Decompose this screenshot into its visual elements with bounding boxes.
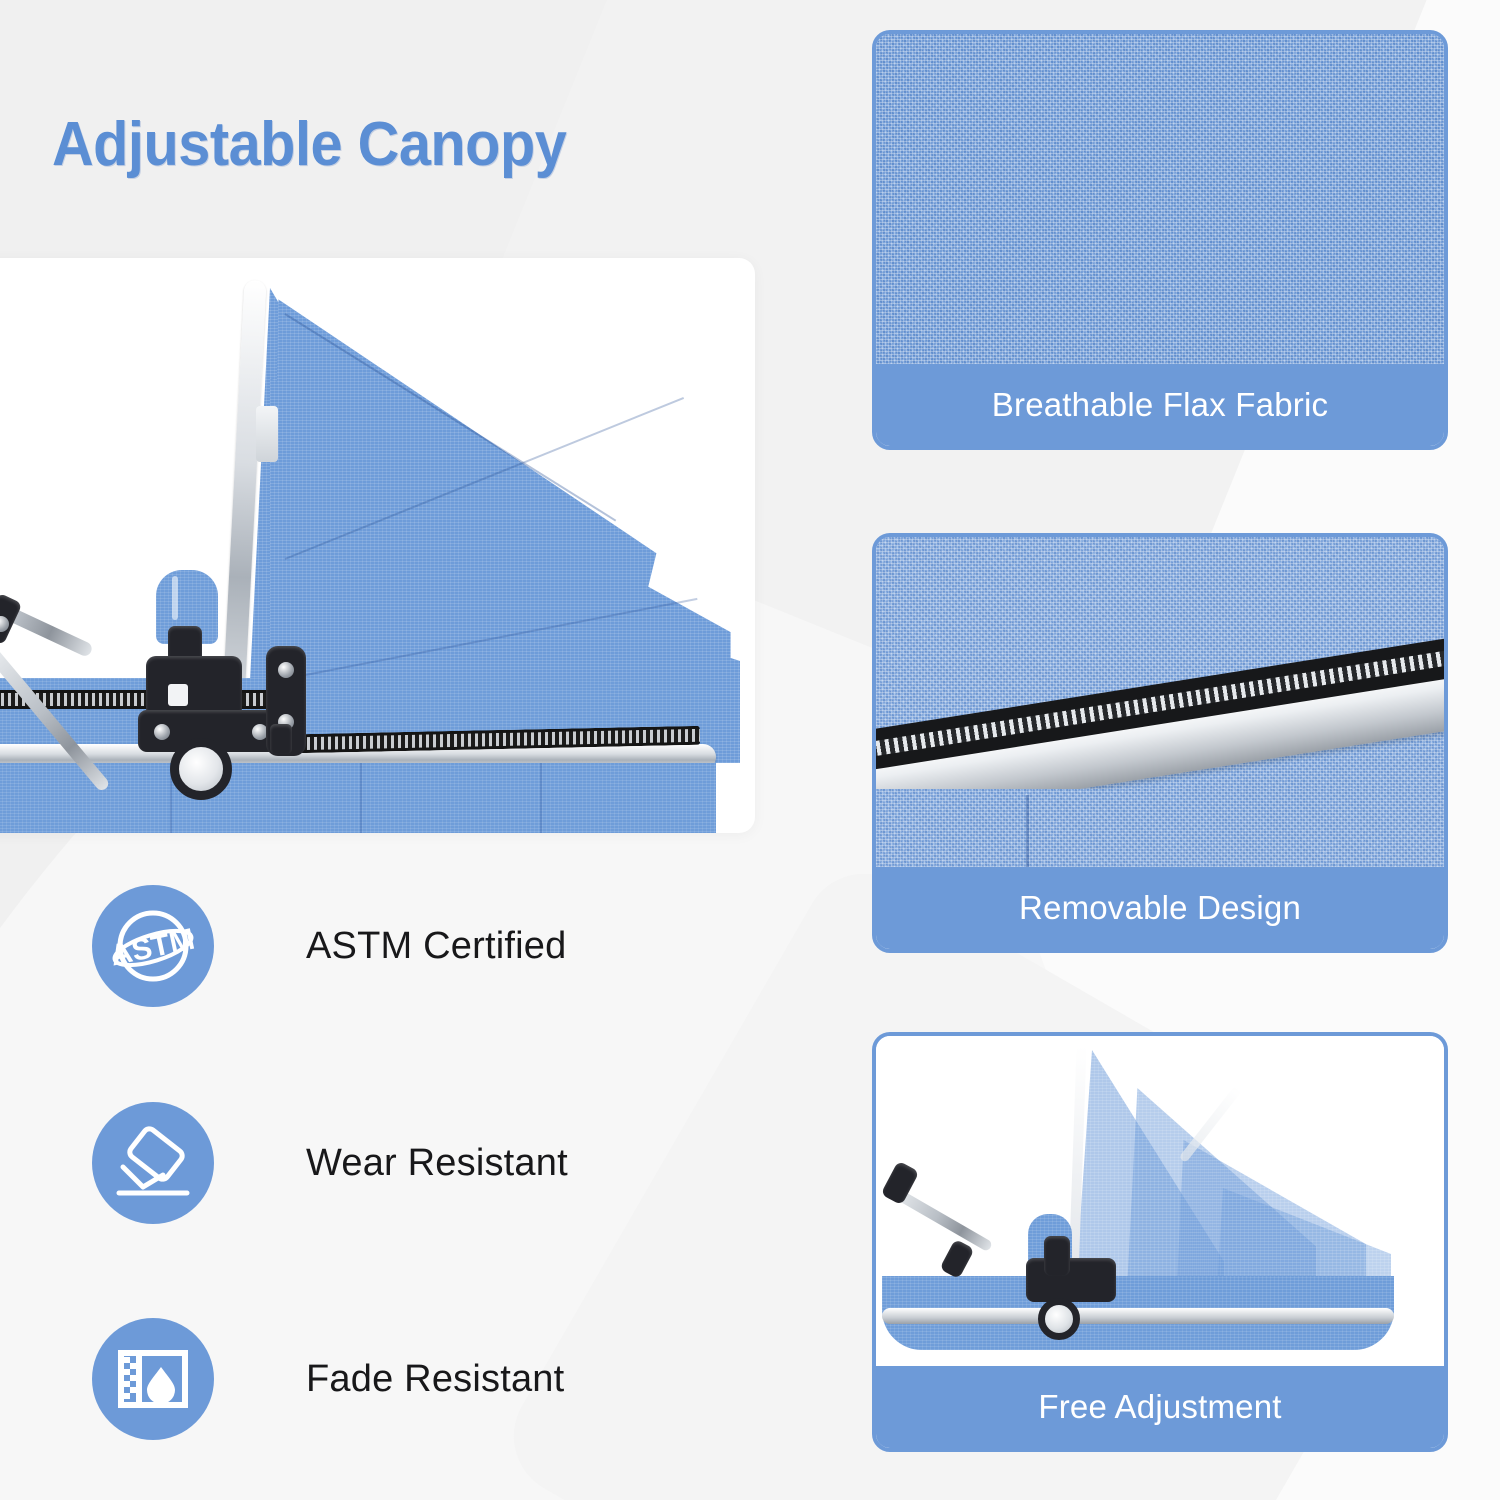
infographic-canvas: Adjustable Canopy bbox=[0, 0, 1500, 1500]
adjust-hinge-cluster bbox=[1026, 1258, 1116, 1302]
feature-label-astm: ASTM Certified bbox=[306, 925, 566, 968]
feature-label-fade: Fade Resistant bbox=[306, 1358, 564, 1401]
page-title: Adjustable Canopy bbox=[52, 112, 566, 177]
hinge-screw-1 bbox=[154, 724, 170, 740]
canopy-hinge-cluster bbox=[146, 656, 242, 718]
hero-image-card bbox=[0, 258, 755, 833]
feature-row-fade: Fade Resistant bbox=[92, 1318, 564, 1440]
flax-fabric-swatch bbox=[876, 34, 1444, 364]
fabric-water-drop-icon bbox=[92, 1318, 214, 1440]
feature-row-wear: Wear Resistant bbox=[92, 1102, 568, 1224]
caption-removable-design: Removable Design bbox=[876, 867, 1444, 949]
stroller-illustration bbox=[0, 258, 755, 833]
canopy-front-rail-tab bbox=[256, 406, 278, 462]
seat-skirt bbox=[0, 763, 716, 833]
adjust-handle-clamp-2 bbox=[939, 1239, 974, 1279]
eraser-icon bbox=[92, 1102, 214, 1224]
caption-free-adjustment: Free Adjustment bbox=[876, 1366, 1444, 1448]
panel-removable-design: Removable Design bbox=[872, 533, 1448, 953]
canopy-pivot-screw-1 bbox=[278, 662, 294, 678]
bumper-bar-highlight bbox=[172, 576, 178, 620]
zipper-closeup-pleat bbox=[1026, 795, 1029, 867]
adjust-hinge-upper bbox=[1044, 1236, 1070, 1276]
fold-release-wheel[interactable] bbox=[170, 738, 232, 800]
panel-flax-fabric: Breathable Flax Fabric bbox=[872, 30, 1448, 450]
feature-label-wear: Wear Resistant bbox=[306, 1142, 568, 1185]
frame-lock-tab[interactable] bbox=[270, 724, 292, 754]
caption-flax-fabric: Breathable Flax Fabric bbox=[876, 364, 1444, 446]
seat-pleat-3 bbox=[540, 763, 542, 833]
astm-certified-icon: ASTM bbox=[92, 885, 214, 1007]
feature-row-astm: ASTM ASTM Certified bbox=[92, 885, 566, 1007]
canopy-adjustment-positions bbox=[876, 1036, 1444, 1366]
hinge-button[interactable] bbox=[168, 684, 188, 706]
panel-free-adjustment: Free Adjustment bbox=[872, 1032, 1448, 1452]
adjust-chassis-rail bbox=[882, 1308, 1394, 1324]
zipper-closeup bbox=[876, 537, 1444, 867]
zipper-closeup-fabric-lower bbox=[876, 789, 1444, 867]
adjust-rail-2 bbox=[1179, 1085, 1243, 1163]
seat-pleat-2 bbox=[360, 763, 362, 833]
adjust-release-wheel[interactable] bbox=[1038, 1298, 1080, 1340]
